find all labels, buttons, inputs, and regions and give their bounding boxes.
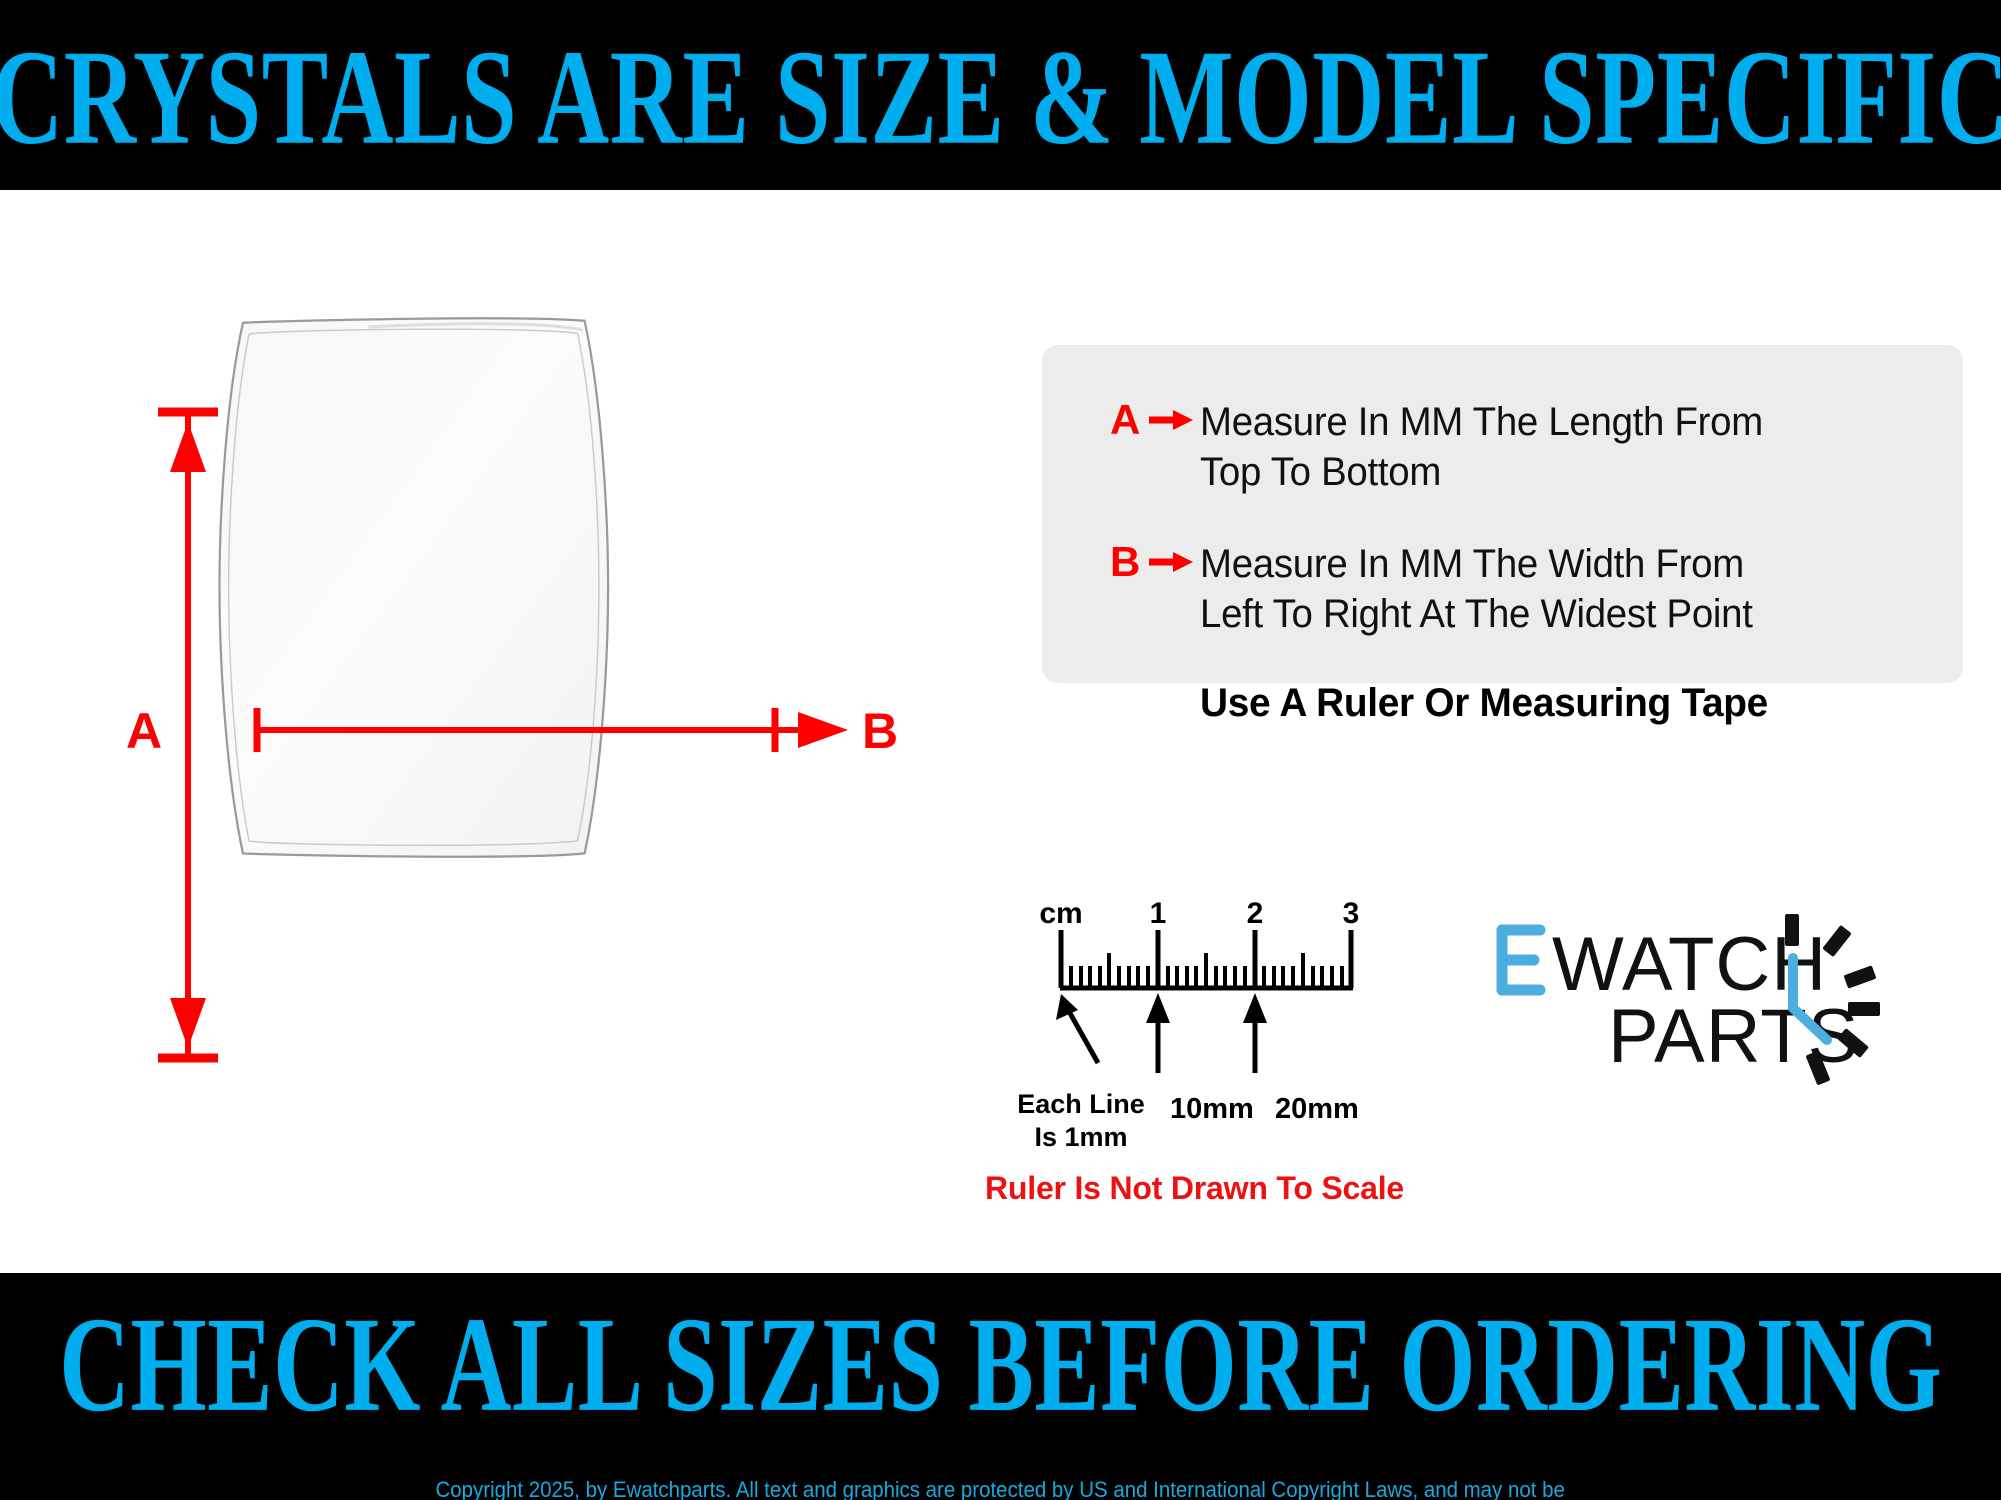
logo-letter-e [1502, 930, 1540, 990]
ruler-pointer-arrows [1056, 993, 1267, 1073]
instruction-text-b: Measure In MM The Width From Left To Rig… [1200, 539, 1753, 639]
instruction-row-b: B Measure In MM The Width From Left To R… [1110, 539, 1963, 639]
instructions-panel: A Measure In MM The Length From Top To B… [1042, 345, 1963, 683]
right-arrow-icon [1144, 397, 1200, 433]
ruler-label-cm: cm [1039, 898, 1082, 930]
instruction-key-b: B [1110, 539, 1144, 585]
ruler-label-2: 2 [1247, 898, 1264, 930]
crystal-diagram: A B [0, 190, 1000, 1273]
header-banner: CRYSTALS ARE SIZE & MODEL SPECIFIC [0, 0, 2001, 190]
ruler-label-1: 1 [1150, 898, 1167, 930]
copyright-line-1: Copyright 2025, by Ewatchparts. All text… [436, 1479, 1565, 1500]
ruler-caption-20mm: 20mm [1275, 1093, 1359, 1126]
header-title: CRYSTALS ARE SIZE & MODEL SPECIFIC [0, 30, 2001, 166]
dimension-label-a: A [126, 706, 162, 756]
instruction-text-a-line2: Top To Bottom [1200, 447, 1763, 497]
crystal-glass [219, 318, 608, 856]
footer-title: CHECK ALL SIZES BEFORE ORDERING [59, 1297, 1942, 1433]
crystal-sizing-infographic: CRYSTALS ARE SIZE & MODEL SPECIFIC [0, 0, 2001, 1500]
ruler-disclaimer: Ruler Is Not Drawn To Scale [985, 1170, 1404, 1207]
instruction-row-a: A Measure In MM The Length From Top To B… [1110, 397, 1963, 497]
height-dimension-arrow [158, 412, 218, 1058]
instruction-text-a-line1: Measure In MM The Length From [1200, 397, 1763, 447]
ewatchparts-logo: WATCH PARTS [1490, 900, 1910, 1100]
dimension-label-b: B [862, 706, 898, 756]
ruler-caption-line2: Is 1mm [986, 1121, 1176, 1154]
instruction-text-b-line2: Left To Right At The Widest Point [1200, 589, 1753, 639]
instruction-text-a: Measure In MM The Length From Top To Bot… [1200, 397, 1763, 497]
instruction-key-a: A [1110, 397, 1144, 443]
ruler-label-3: 3 [1343, 898, 1360, 930]
ruler-caption-each-line: Each Line Is 1mm [986, 1088, 1176, 1154]
ruler-caption-line1: Each Line [986, 1088, 1176, 1121]
instruction-note: Use A Ruler Or Measuring Tape [1200, 681, 1940, 726]
instruction-text-b-line1: Measure In MM The Width From [1200, 539, 1753, 589]
footer-banner: CHECK ALL SIZES BEFORE ORDERING Copyrigh… [0, 1273, 2001, 1500]
logo-svg: WATCH PARTS [1490, 900, 1910, 1100]
right-arrow-icon [1144, 539, 1200, 575]
ruler-caption-10mm: 10mm [1170, 1093, 1254, 1126]
